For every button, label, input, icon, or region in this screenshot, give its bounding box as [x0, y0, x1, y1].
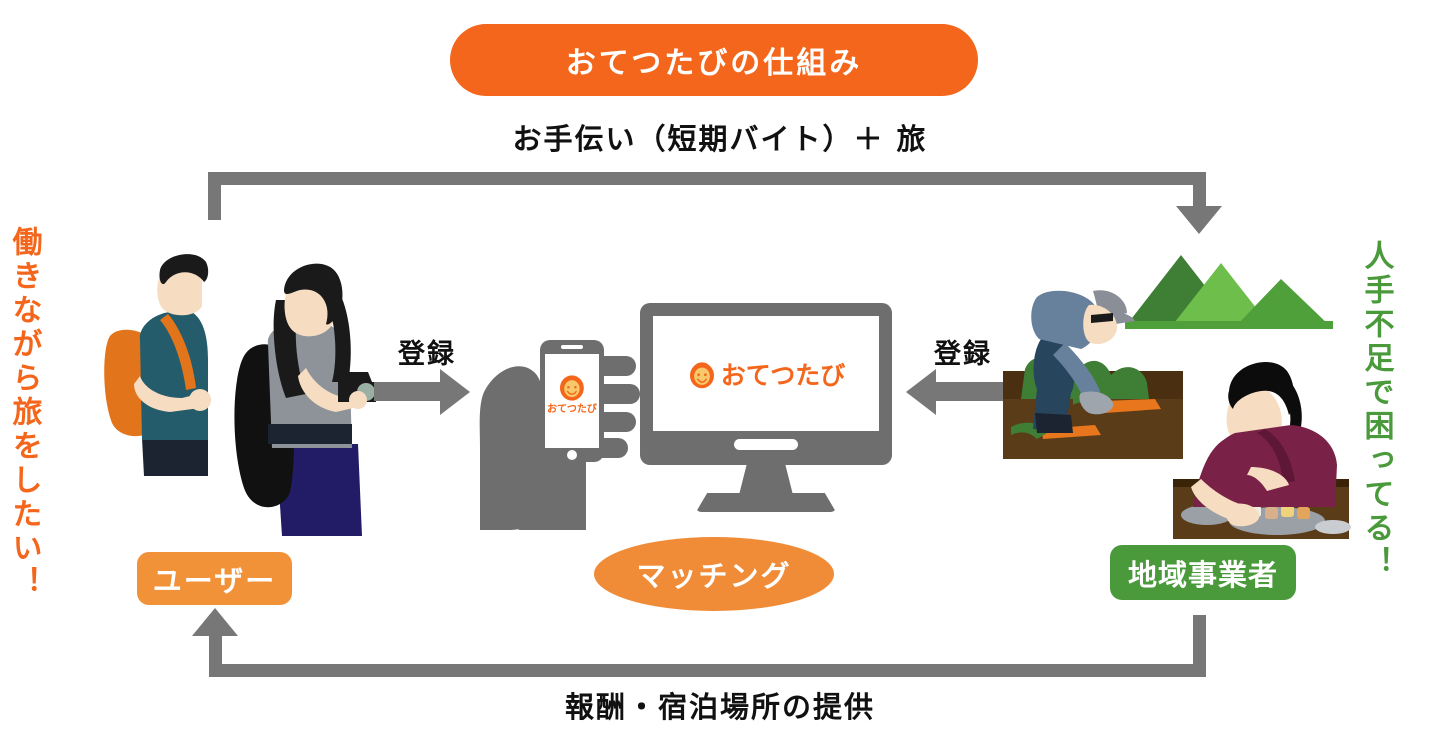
- top-arrow-shaft: [208, 172, 1206, 185]
- diagram-canvas: おてつたびの仕組み お手伝い（短期バイト）＋ 旅 働きながら旅をしたい！ 人手不…: [0, 0, 1440, 754]
- title-pill: おてつたびの仕組み: [450, 24, 978, 96]
- phone-app-name-label: おてつたび: [547, 402, 597, 415]
- monitor-neck: [739, 465, 793, 495]
- chip-local-business: 地域事業者: [1110, 545, 1296, 600]
- desktop-monitor-icon: おてつたび: [640, 303, 892, 518]
- service-name-label: おてつたび: [721, 356, 846, 392]
- travelers-illustration: [100, 248, 390, 548]
- monitor-screen: おてつたび: [653, 316, 879, 431]
- chip-user-label: ユーザー: [153, 558, 276, 600]
- caption-user-motivation: 働きながら旅をしたい！: [8, 226, 40, 600]
- bottom-arrow-left-stem: [209, 632, 222, 677]
- bottom-arrow-shaft: [215, 664, 1206, 677]
- chip-local-business-label: 地域事業者: [1128, 552, 1278, 594]
- smartphone-in-hand-icon: おてつたび: [478, 332, 648, 532]
- matching-label: マッチング: [636, 553, 791, 595]
- bottom-arrow-head-icon: [192, 608, 238, 636]
- monitor-notch: [734, 439, 798, 450]
- monitor-bezel: おてつたび: [640, 303, 892, 465]
- top-arrow-head-icon: [1176, 206, 1222, 234]
- subtitle-text: お手伝い（短期バイト）＋ 旅: [0, 116, 1440, 158]
- backpack-mascot-icon: [687, 359, 717, 389]
- caption-business-need: 人手不足で困ってる！: [1360, 240, 1392, 580]
- chip-user: ユーザー: [137, 552, 292, 605]
- caption-compensation: 報酬・宿泊場所の提供: [0, 684, 1440, 726]
- register-arrow-right-shaft: [374, 382, 446, 401]
- register-label-left: 登録: [372, 332, 482, 371]
- register-arrow-left-head-icon: [906, 369, 936, 415]
- matching-badge: マッチング: [594, 537, 834, 611]
- local-business-illustration: [985, 243, 1355, 543]
- register-arrow-right-head-icon: [440, 369, 470, 415]
- monitor-base: [696, 493, 836, 512]
- page-title: おてつたびの仕組み: [566, 38, 862, 82]
